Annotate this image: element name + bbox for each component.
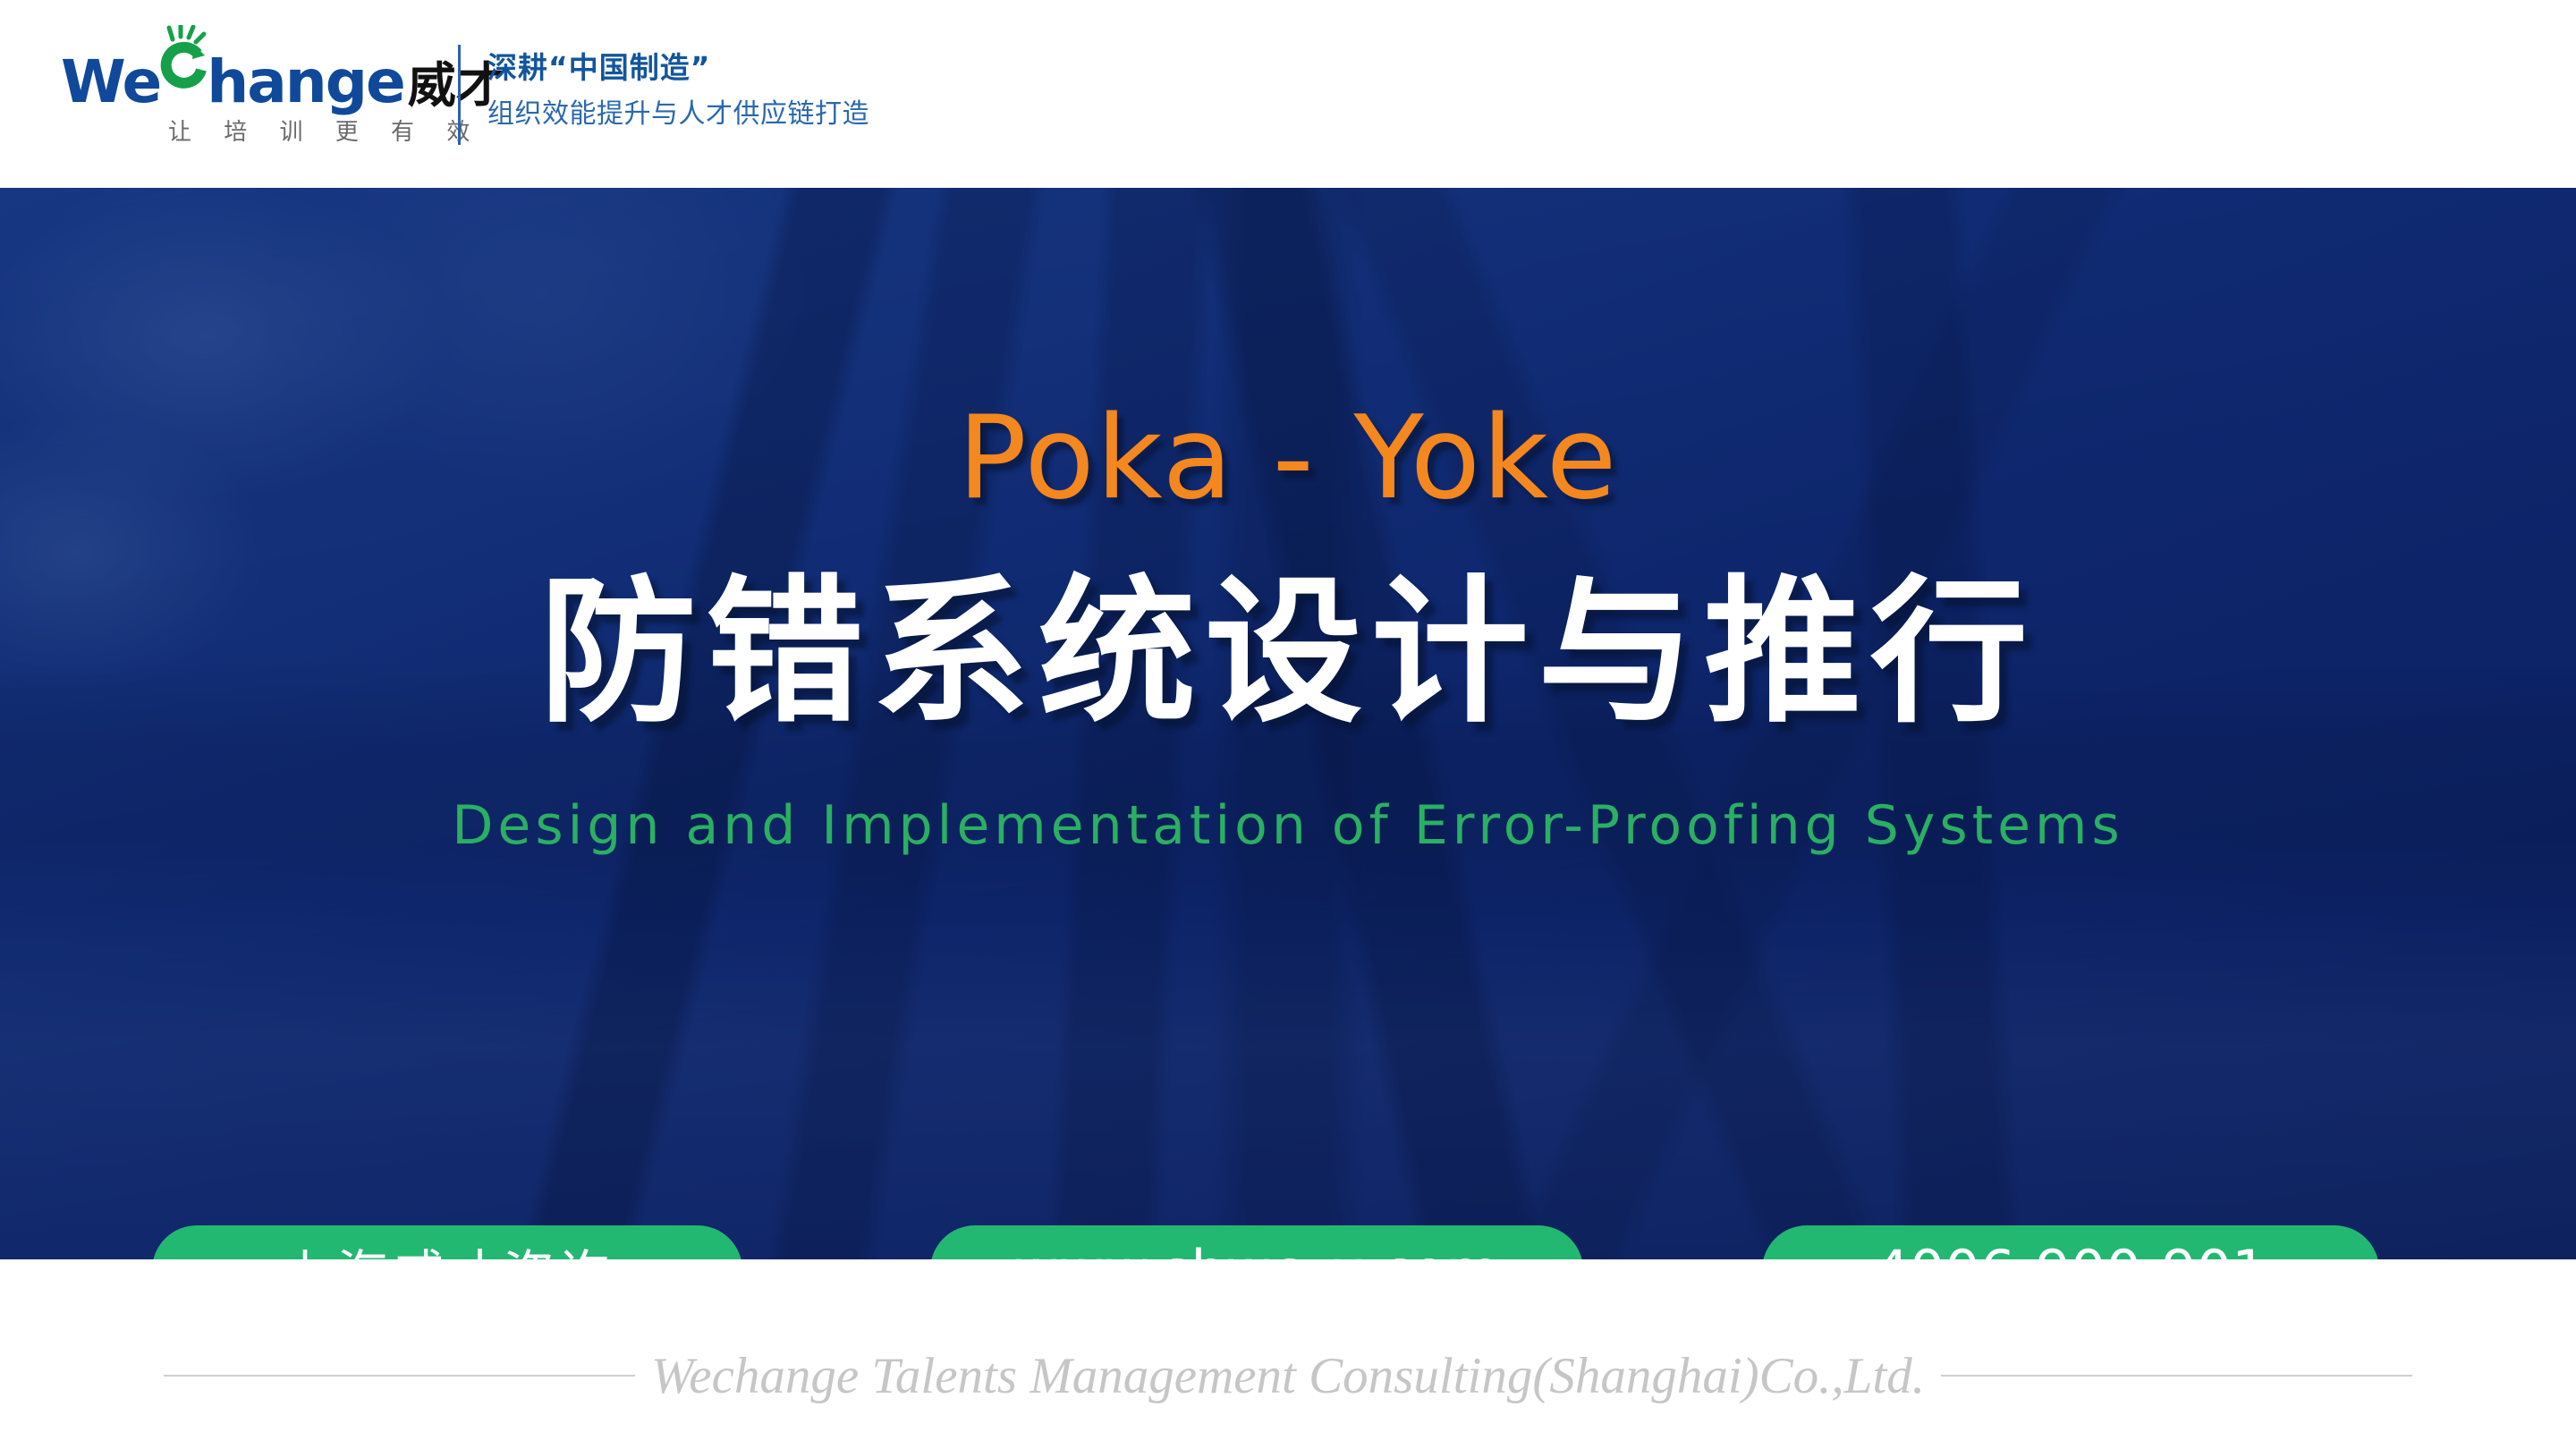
contact-pill-group: 上海威才咨询 www.shwczx.com 4006-900-901 <box>152 1225 2442 1259</box>
page-header: We hange 威才 让 培 训 更 有 效 深耕“中国制造” <box>0 0 2576 188</box>
pill-website-url[interactable]: www.shwczx.com <box>930 1225 1583 1259</box>
footer-row: Wechange Talents Management Consulting(S… <box>0 1335 2576 1416</box>
header-divider <box>458 45 461 145</box>
brand-logo[interactable]: We hange 威才 让 培 训 更 有 效 <box>61 39 454 151</box>
logo-text-hange: hange <box>207 51 404 114</box>
footer-company-name: Wechange Talents Management Consulting(S… <box>651 1347 1925 1405</box>
footer-rule-left <box>164 1375 635 1377</box>
logo-text-we: We <box>61 51 160 114</box>
pill-phone-number[interactable]: 4006-900-901 <box>1762 1225 2379 1259</box>
tagline-line-1: 深耕“中国制造” <box>487 45 1042 91</box>
pill-company-name[interactable]: 上海威才咨询 <box>152 1225 742 1259</box>
logo-wordmark: We hange 威才 <box>61 39 504 102</box>
header-tagline: 深耕“中国制造” 组织效能提升与人才供应链打造 <box>487 45 1042 138</box>
hero-title-english: Poka - Yoke <box>0 392 2576 526</box>
hero-banner: Poka - Yoke 防错系统设计与推行 Design and Impleme… <box>0 188 2576 1259</box>
hero-content: Poka - Yoke 防错系统设计与推行 Design and Impleme… <box>0 188 2576 1259</box>
logo-slogan: 让 培 训 更 有 效 <box>168 114 482 147</box>
logo-c-arc-sparkle-icon <box>160 39 207 102</box>
page-footer: Wechange Talents Management Consulting(S… <box>0 1259 2576 1449</box>
hero-title-chinese: 防错系统设计与推行 <box>0 562 2576 744</box>
tagline-line-2: 组织效能提升与人才供应链打造 <box>487 91 1042 138</box>
footer-rule-right <box>1941 1375 2412 1377</box>
hero-subtitle-english: Design and Implementation of Error-Proof… <box>0 792 2576 859</box>
